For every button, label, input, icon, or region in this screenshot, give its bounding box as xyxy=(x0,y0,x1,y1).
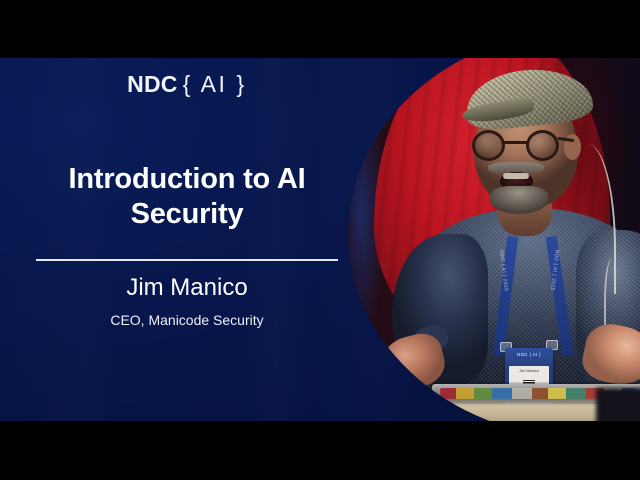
glasses-bridge xyxy=(504,141,528,144)
glasses-lens-left xyxy=(472,130,505,161)
slide-text-block: NDC{ AI } Introduction to AI Security Ji… xyxy=(0,58,374,421)
video-frame: NDC { AI } 2025 NDC { AI } 2025 NDC { AI… xyxy=(0,0,640,480)
badge-header: NDC { AI } xyxy=(505,352,553,357)
speaker-role: CEO, Manicode Security xyxy=(18,312,356,329)
presentation-slide: NDC { AI } 2025 NDC { AI } 2025 NDC { AI… xyxy=(0,58,640,421)
ndc-ai-logo: NDC{ AI } xyxy=(0,73,374,96)
letterbox-bar-top xyxy=(0,0,640,58)
glasses-lens-right xyxy=(526,130,559,161)
speaker-teeth xyxy=(503,173,529,179)
speaker-name: Jim Manico xyxy=(18,274,356,303)
speaker-goatee xyxy=(490,186,548,214)
podium-shadow-right xyxy=(596,388,640,421)
ndc-logo-brace-ai: { AI } xyxy=(183,71,247,97)
divider xyxy=(36,259,338,261)
badge-name: Jim Manico xyxy=(509,368,549,373)
page-title: Introduction to AI Security xyxy=(18,162,356,232)
speaker-photo-circle-mask: NDC { AI } 2025 NDC { AI } 2025 NDC { AI… xyxy=(348,58,640,421)
letterbox-bar-bottom xyxy=(0,421,640,480)
speaker-photo: NDC { AI } 2025 NDC { AI } 2025 NDC { AI… xyxy=(348,58,640,421)
ndc-logo-wordmark: NDC xyxy=(127,71,177,97)
